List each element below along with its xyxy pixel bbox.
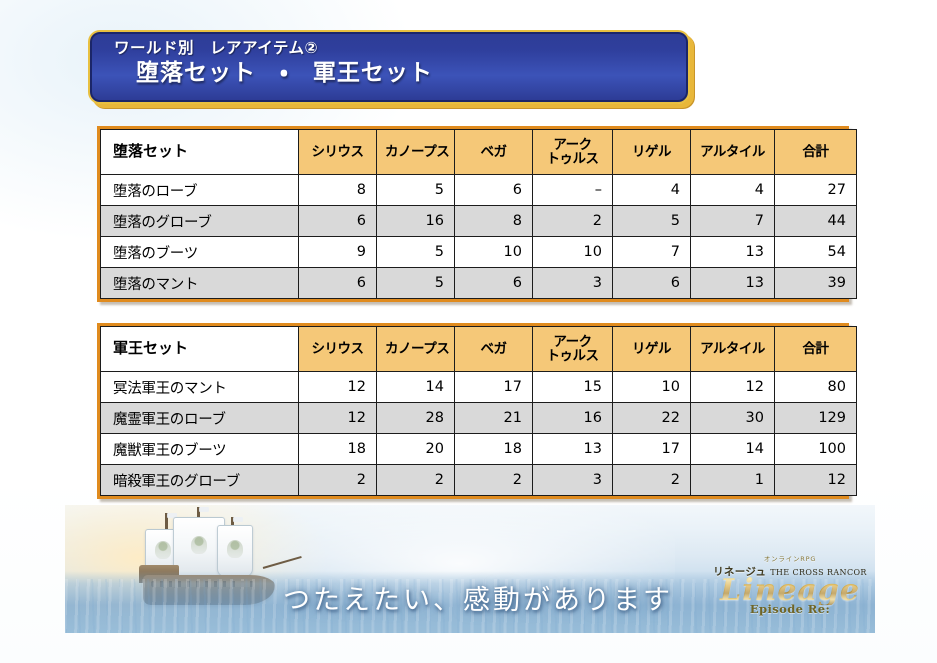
column-header-canopus: カノープス (377, 327, 455, 372)
cell-altair: 12 (691, 372, 775, 403)
cell-arcturus: 16 (533, 403, 613, 434)
fallen-set-table: 堕落セット シリウス カノープス ベガ アークトゥルス リゲル アルタイル 合計… (100, 129, 857, 299)
column-header-sirius: シリウス (299, 130, 377, 175)
flag-main (199, 507, 209, 512)
table-row: 堕落のマント 6 5 6 3 6 13 39 (101, 268, 857, 299)
arcturus-line-1: アーク (541, 138, 604, 152)
warlord-set-table-wrapper: 軍王セット シリウス カノープス ベガ アークトゥルス リゲル アルタイル 合計… (97, 323, 849, 499)
cell-vega: 21 (455, 403, 533, 434)
cell-canopus: 2 (377, 465, 455, 496)
ship-bowsprit (263, 556, 302, 569)
table-row: 堕落のグローブ 6 16 8 2 5 7 44 (101, 206, 857, 237)
cell-total: 12 (775, 465, 857, 496)
cell-arcturus: – (533, 175, 613, 206)
column-header-set-name: 軍王セット (101, 327, 299, 372)
cell-total: 100 (775, 434, 857, 465)
flag-mizzen (233, 517, 243, 522)
cell-vega: 10 (455, 237, 533, 268)
warlord-set-table: 軍王セット シリウス カノープス ベガ アークトゥルス リゲル アルタイル 合計… (100, 326, 857, 496)
cell-canopus: 28 (377, 403, 455, 434)
column-header-rigel: リゲル (613, 327, 691, 372)
cell-altair: 4 (691, 175, 775, 206)
cell-arcturus: 2 (533, 206, 613, 237)
cell-arcturus: 15 (533, 372, 613, 403)
cell-sirius: 2 (299, 465, 377, 496)
banner-title: 堕落セット ・ 軍王セット (136, 58, 688, 89)
arcturus-line-2: トゥルス (541, 152, 604, 166)
table-header-row: 軍王セット シリウス カノープス ベガ アークトゥルス リゲル アルタイル 合計 (101, 327, 857, 372)
column-header-arcturus: アークトゥルス (533, 130, 613, 175)
table-row: 堕落のローブ 8 5 6 – 4 4 27 (101, 175, 857, 206)
column-header-rigel: リゲル (613, 130, 691, 175)
column-header-canopus: カノープス (377, 130, 455, 175)
cell-sirius: 12 (299, 372, 377, 403)
cell-rigel: 7 (613, 237, 691, 268)
footer-tagline: つたえたい、感動があります (278, 578, 678, 617)
cell-total: 27 (775, 175, 857, 206)
cell-rigel: 17 (613, 434, 691, 465)
row-label: 堕落のマント (101, 268, 299, 299)
table-row: 魔霊軍王のローブ 12 28 21 16 22 30 129 (101, 403, 857, 434)
cell-total: 39 (775, 268, 857, 299)
table-row: 魔獣軍王のブーツ 18 20 18 13 17 14 100 (101, 434, 857, 465)
cell-altair: 7 (691, 206, 775, 237)
logo-wordmark: Lineage (706, 577, 874, 606)
cell-arcturus: 13 (533, 434, 613, 465)
cell-rigel: 22 (613, 403, 691, 434)
cell-canopus: 5 (377, 175, 455, 206)
cell-canopus: 20 (377, 434, 455, 465)
cell-vega: 6 (455, 268, 533, 299)
row-label: 堕落のローブ (101, 175, 299, 206)
column-header-vega: ベガ (455, 327, 533, 372)
arcturus-line-2: トゥルス (541, 349, 604, 363)
column-header-sirius: シリウス (299, 327, 377, 372)
logo-online-rpg-label: オンラインRPG (706, 556, 874, 563)
cell-vega: 17 (455, 372, 533, 403)
cell-sirius: 8 (299, 175, 377, 206)
row-label: 冥法軍王のマント (101, 372, 299, 403)
row-label: 堕落のグローブ (101, 206, 299, 237)
column-header-arcturus: アークトゥルス (533, 327, 613, 372)
column-header-vega: ベガ (455, 130, 533, 175)
sail-emblem-icon (191, 536, 207, 554)
table-header-row: 堕落セット シリウス カノープス ベガ アークトゥルス リゲル アルタイル 合計 (101, 130, 857, 175)
row-label: 暗殺軍王のグローブ (101, 465, 299, 496)
slide-page: ワールド別 レアアイテム② 堕落セット ・ 軍王セット 堕落セット シリウス カ… (0, 0, 937, 663)
cell-sirius: 6 (299, 268, 377, 299)
cell-arcturus: 10 (533, 237, 613, 268)
sail-emblem-icon (155, 541, 171, 559)
cell-arcturus: 3 (533, 268, 613, 299)
column-header-total: 合計 (775, 130, 857, 175)
fallen-set-table-wrapper: 堕落セット シリウス カノープス ベガ アークトゥルス リゲル アルタイル 合計… (97, 126, 849, 302)
column-header-total: 合計 (775, 327, 857, 372)
cell-altair: 14 (691, 434, 775, 465)
table-row: 堕落のブーツ 9 5 10 10 7 13 54 (101, 237, 857, 268)
cell-total: 44 (775, 206, 857, 237)
cell-vega: 6 (455, 175, 533, 206)
cell-canopus: 5 (377, 268, 455, 299)
title-banner-inner: ワールド別 レアアイテム② 堕落セット ・ 軍王セット (90, 32, 688, 102)
cell-altair: 13 (691, 237, 775, 268)
cell-total: 129 (775, 403, 857, 434)
column-header-altair: アルタイル (691, 130, 775, 175)
cell-rigel: 5 (613, 206, 691, 237)
cell-canopus: 16 (377, 206, 455, 237)
column-header-set-name: 堕落セット (101, 130, 299, 175)
row-label: 魔霊軍王のローブ (101, 403, 299, 434)
cell-sirius: 12 (299, 403, 377, 434)
cell-rigel: 4 (613, 175, 691, 206)
cell-vega: 8 (455, 206, 533, 237)
cell-altair: 30 (691, 403, 775, 434)
column-header-altair: アルタイル (691, 327, 775, 372)
cell-rigel: 6 (613, 268, 691, 299)
cell-rigel: 10 (613, 372, 691, 403)
cell-altair: 13 (691, 268, 775, 299)
row-label: 魔獣軍王のブーツ (101, 434, 299, 465)
title-banner: ワールド別 レアアイテム② 堕落セット ・ 軍王セット (88, 30, 690, 104)
cell-vega: 2 (455, 465, 533, 496)
cell-sirius: 9 (299, 237, 377, 268)
arcturus-line-1: アーク (541, 335, 604, 349)
cell-rigel: 2 (613, 465, 691, 496)
cell-canopus: 5 (377, 237, 455, 268)
cell-canopus: 14 (377, 372, 455, 403)
row-label: 堕落のブーツ (101, 237, 299, 268)
cell-sirius: 18 (299, 434, 377, 465)
cell-sirius: 6 (299, 206, 377, 237)
lineage-logo: オンラインRPG リネージュ THE CROSS RANCOR Lineage … (706, 556, 874, 628)
cell-altair: 1 (691, 465, 775, 496)
sail-mizzen (217, 525, 253, 577)
sail-emblem-icon (227, 540, 243, 558)
table-row: 暗殺軍王のグローブ 2 2 2 3 2 1 12 (101, 465, 857, 496)
cell-vega: 18 (455, 434, 533, 465)
cell-total: 80 (775, 372, 857, 403)
table-row: 冥法軍王のマント 12 14 17 15 10 12 80 (101, 372, 857, 403)
banner-subtitle: ワールド別 レアアイテム② (114, 39, 688, 58)
cell-arcturus: 3 (533, 465, 613, 496)
cell-total: 54 (775, 237, 857, 268)
